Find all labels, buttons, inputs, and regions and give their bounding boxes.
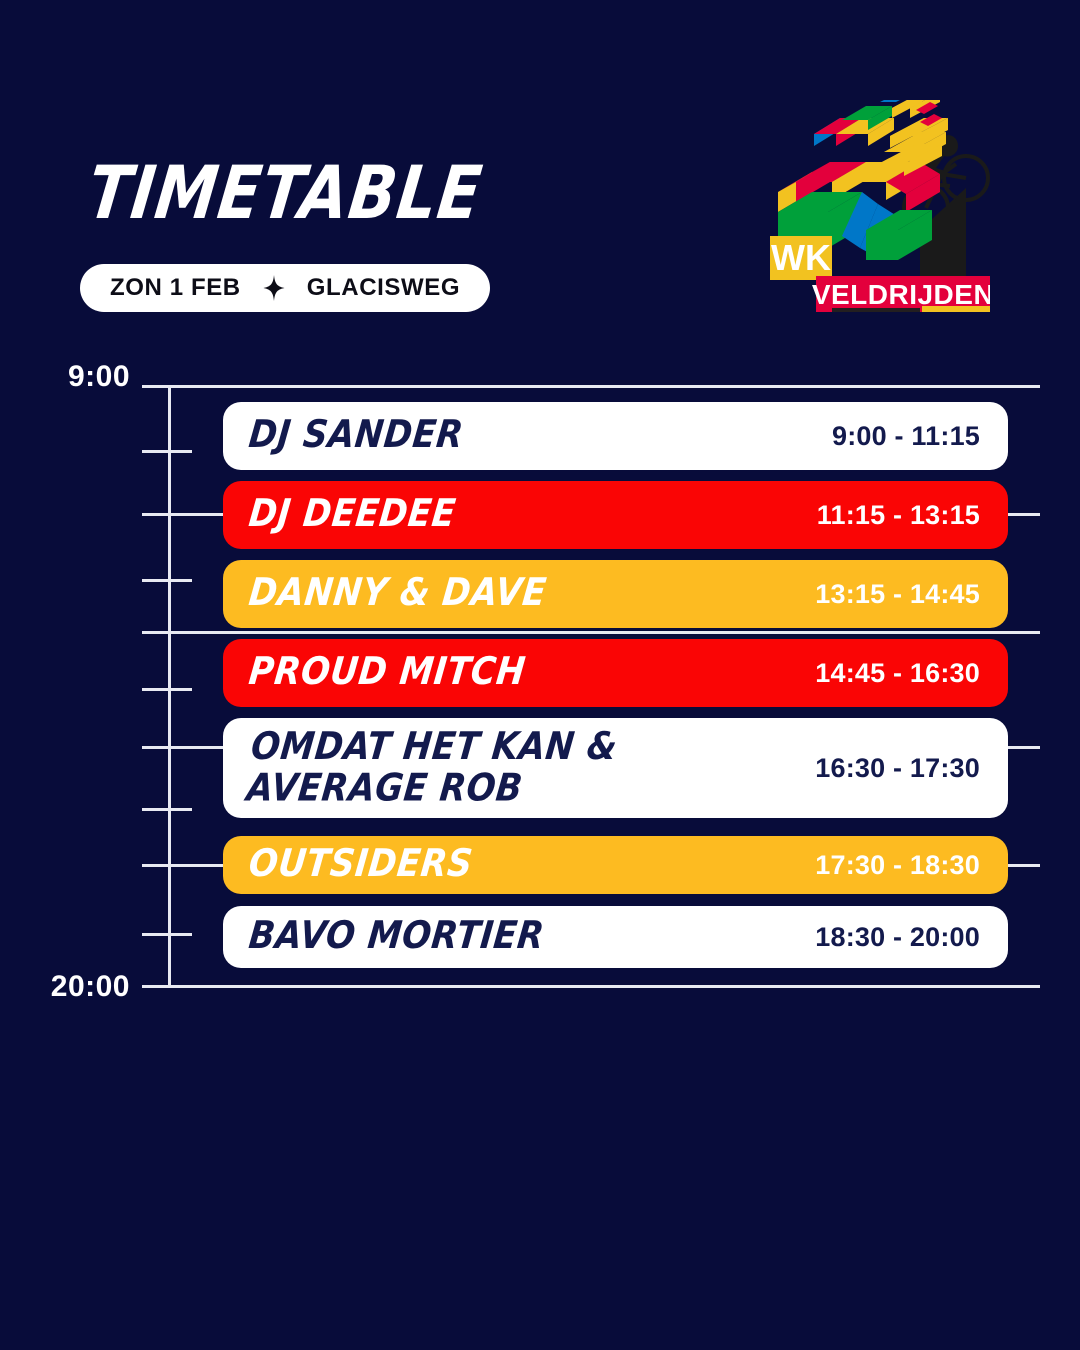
act-name: DJ SANDER bbox=[247, 415, 466, 457]
timeline-gridline bbox=[142, 808, 192, 811]
timetable-row[interactable]: OMDAT HET KAN & AVERAGE ROB16:30 - 17:30 bbox=[223, 718, 1008, 818]
logo-year-box: 2026 bbox=[922, 306, 990, 312]
timetable-section: 9:00 20:00 DJ SANDER9:00 - 11:15DJ DEEDE… bbox=[0, 376, 1080, 996]
page-header: TIMETABLE ZON 1 FEB GLACISWEG bbox=[0, 0, 1080, 360]
act-name: OUTSIDERS bbox=[247, 844, 475, 886]
logo-wk-box: WK bbox=[770, 236, 832, 280]
act-name: DJ DEEDEE bbox=[247, 494, 458, 536]
four-point-star-icon bbox=[263, 275, 285, 301]
timeline-gridline bbox=[142, 985, 1040, 988]
timeline-gridline bbox=[142, 385, 1040, 388]
svg-text:HULST: HULST bbox=[834, 311, 917, 312]
act-time: 16:30 - 17:30 bbox=[815, 753, 980, 784]
timetable-row[interactable]: PROUD MITCH14:45 - 16:30 bbox=[223, 639, 1008, 707]
timeline-gridline bbox=[142, 933, 192, 936]
act-name: PROUD MITCH bbox=[247, 652, 528, 694]
act-name: DANNY & DAVE bbox=[247, 573, 549, 615]
act-time: 9:00 - 11:15 bbox=[832, 421, 980, 452]
timetable-row[interactable]: DJ SANDER9:00 - 11:15 bbox=[223, 402, 1008, 470]
event-date: ZON 1 FEB bbox=[110, 274, 241, 302]
event-location: GLACISWEG bbox=[307, 274, 460, 302]
axis-label-start: 9:00 bbox=[68, 360, 130, 394]
axis-label-end: 20:00 bbox=[51, 970, 130, 1004]
timeline-gridline bbox=[142, 688, 192, 691]
logo-hulst-box: HULST bbox=[832, 308, 920, 312]
act-time: 14:45 - 16:30 bbox=[815, 658, 980, 689]
wk-veldrijden-hulst-2026-logo: WK VELDRIJDEN HULST 2026 bbox=[770, 100, 990, 312]
timetable-row[interactable]: BAVO MORTIER18:30 - 20:00 bbox=[223, 906, 1008, 968]
svg-text:WK: WK bbox=[771, 237, 831, 278]
svg-text:2026: 2026 bbox=[926, 309, 986, 312]
act-time: 17:30 - 18:30 bbox=[815, 850, 980, 881]
timetable-row[interactable]: DANNY & DAVE13:15 - 14:45 bbox=[223, 560, 1008, 628]
timeline-rail bbox=[168, 385, 171, 987]
act-time: 18:30 - 20:00 bbox=[815, 922, 980, 953]
svg-text:VELDRIJDEN: VELDRIJDEN bbox=[812, 279, 990, 310]
timeline-gridline bbox=[142, 579, 192, 582]
timeline-gridline bbox=[142, 631, 1040, 634]
act-name: BAVO MORTIER bbox=[247, 916, 546, 958]
page-title: TIMETABLE bbox=[84, 157, 486, 230]
timetable-row[interactable]: OUTSIDERS17:30 - 18:30 bbox=[223, 836, 1008, 894]
act-time: 11:15 - 13:15 bbox=[817, 500, 980, 531]
timetable-row[interactable]: DJ DEEDEE11:15 - 13:15 bbox=[223, 481, 1008, 549]
act-name: OMDAT HET KAN & AVERAGE ROB bbox=[245, 726, 620, 810]
timeline-gridline bbox=[142, 450, 192, 453]
event-info-pill: ZON 1 FEB GLACISWEG bbox=[80, 264, 490, 312]
act-time: 13:15 - 14:45 bbox=[815, 579, 980, 610]
